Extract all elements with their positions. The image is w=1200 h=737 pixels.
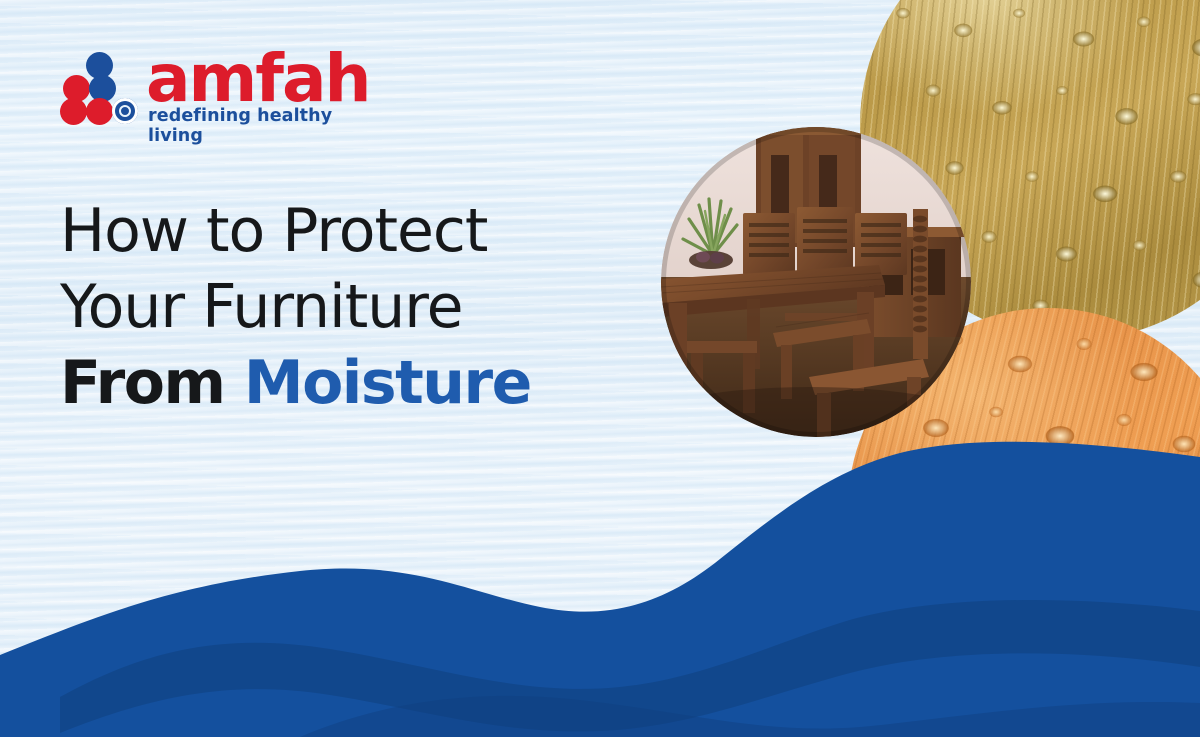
banner-root: amfah redefining healthy living How to P… bbox=[0, 0, 1200, 737]
logo-tagline: redefining healthy living bbox=[148, 106, 362, 146]
bottom-wave-decoration bbox=[0, 397, 1200, 737]
headline-line-2: Your Furniture bbox=[60, 269, 620, 345]
headline-line-3-prefix: From bbox=[60, 348, 244, 418]
logo-ring-dot-icon bbox=[112, 98, 138, 124]
furniture-photo-circle-image bbox=[661, 127, 971, 437]
headline-line-3: From Moisture bbox=[60, 345, 620, 421]
logo-dot-bottom-left-icon bbox=[60, 98, 87, 125]
logo-wordmark: amfah bbox=[146, 44, 370, 114]
amfah-logo[interactable]: amfah redefining healthy living bbox=[62, 50, 362, 132]
headline-line-1: How to Protect bbox=[60, 193, 620, 269]
page-title: How to Protect Your Furniture From Moist… bbox=[60, 193, 620, 421]
logo-dot-cluster-icon bbox=[62, 52, 140, 124]
headline-accent-word: Moisture bbox=[244, 348, 531, 418]
logo-dot-bottom-mid-icon bbox=[86, 98, 113, 125]
